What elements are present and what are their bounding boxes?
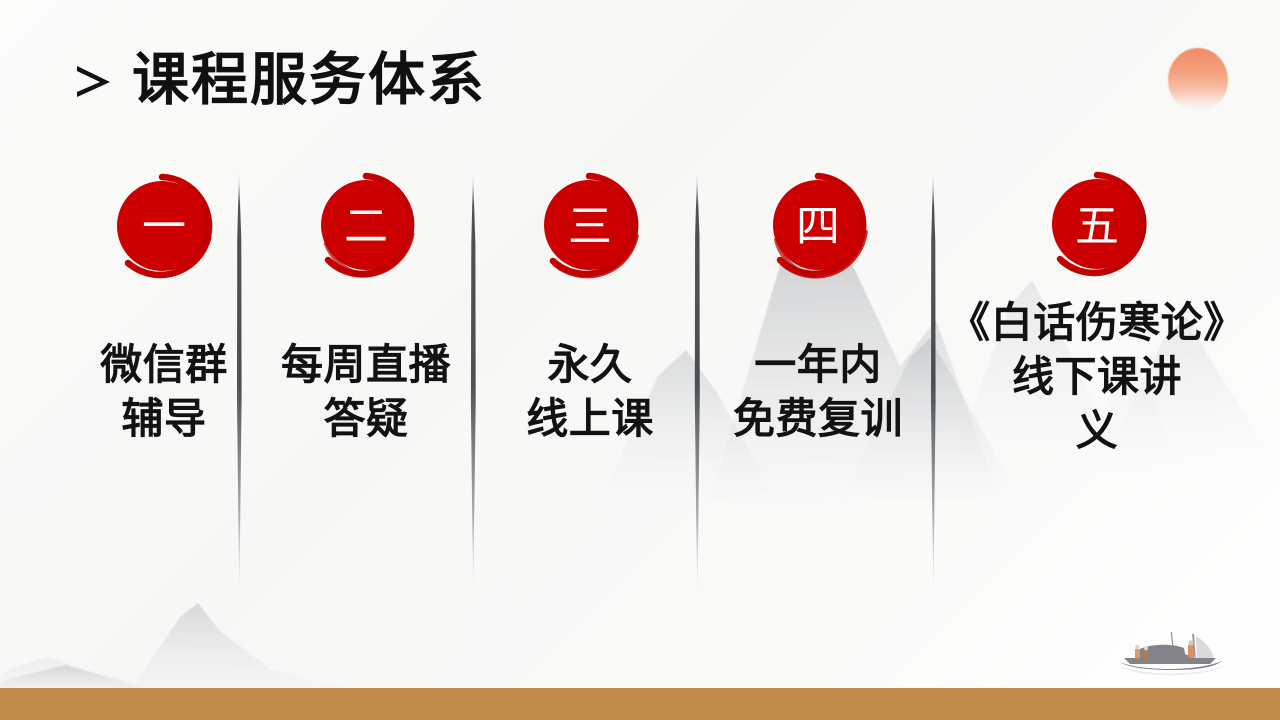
number-badge-2: 二 bbox=[308, 170, 424, 286]
service-label-line: 辅导 bbox=[100, 392, 228, 446]
number-badge-label-4: 四 bbox=[796, 205, 840, 249]
footer-band bbox=[0, 688, 1280, 720]
service-label-line: 线上课 bbox=[526, 392, 654, 446]
brush-divider-2 bbox=[466, 170, 480, 598]
page-title: 课程服务体系 bbox=[72, 52, 486, 109]
number-badge-1: 一 bbox=[106, 170, 222, 286]
service-label-3: 永久 线上课 bbox=[526, 338, 654, 446]
service-column-4[interactable]: 四 一年内 免费复训 bbox=[712, 170, 924, 446]
service-column-3[interactable]: 三 永久 线上课 bbox=[492, 170, 688, 446]
number-badge-label-5: 五 bbox=[1075, 205, 1119, 249]
service-label-line: 线下课讲 bbox=[932, 350, 1262, 404]
service-label-line: 每周直播 bbox=[281, 338, 451, 392]
page-title-text: 课程服务体系 bbox=[132, 52, 486, 109]
service-label-line: 免费复训 bbox=[733, 392, 903, 446]
service-label-line: 永久 bbox=[526, 338, 654, 392]
service-label-line: 一年内 bbox=[733, 338, 903, 392]
slide-canvas: 课程服务体系 bbox=[0, 0, 1280, 720]
service-columns: 一 微信群 辅导 二 每周直播 答疑 bbox=[0, 170, 1280, 600]
number-badge-4: 四 bbox=[760, 170, 876, 286]
number-badge-label-3: 三 bbox=[568, 205, 612, 249]
service-column-2[interactable]: 二 每周直播 答疑 bbox=[268, 170, 464, 446]
service-column-1[interactable]: 一 微信群 辅导 bbox=[58, 170, 270, 446]
ink-boat-icon bbox=[1110, 622, 1240, 684]
service-label-line: 义 bbox=[932, 404, 1262, 458]
service-label-4: 一年内 免费复训 bbox=[733, 338, 903, 446]
service-label-2: 每周直播 答疑 bbox=[281, 338, 451, 446]
brush-divider-3 bbox=[690, 170, 704, 598]
service-label-line: 答疑 bbox=[281, 392, 451, 446]
number-badge-3: 三 bbox=[532, 170, 648, 286]
service-label-line: 《白话伤寒论》 bbox=[932, 296, 1262, 350]
service-label-1: 微信群 辅导 bbox=[100, 338, 228, 446]
number-badge-label-2: 二 bbox=[344, 205, 388, 249]
service-label-line: 微信群 bbox=[100, 338, 228, 392]
sun-circle-icon bbox=[1168, 48, 1228, 112]
arrow-triangle-bullet-icon bbox=[72, 59, 114, 103]
service-column-5[interactable]: 五 《白话伤寒论》 线下课讲 义 bbox=[932, 170, 1262, 457]
number-badge-5: 五 bbox=[1039, 170, 1155, 286]
number-badge-label-1: 一 bbox=[142, 205, 186, 249]
service-label-5: 《白话伤寒论》 线下课讲 义 bbox=[932, 296, 1262, 457]
